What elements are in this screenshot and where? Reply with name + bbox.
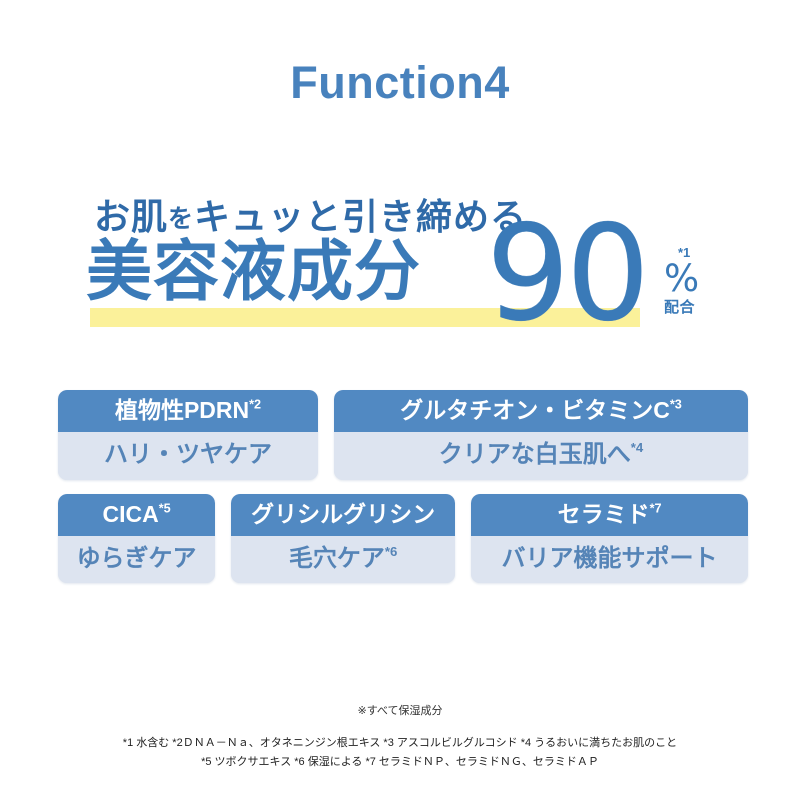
card-header-label: グルタチオン・ビタミンC (400, 397, 670, 423)
card-header-label: グリシルグリシン (251, 501, 435, 527)
page-title: Function4 (0, 60, 800, 105)
card-row-1: 植物性PDRN*2 ハリ・ツヤケア グルタチオン・ビタミンC*3 クリアな白玉肌… (58, 390, 748, 480)
card-plant-pdrn: 植物性PDRN*2 ハリ・ツヤケア (58, 390, 318, 480)
card-header-footnote-ref: *5 (159, 501, 171, 515)
footnote-line-1: *1 水含む *2ＤＮＡ－Ｎａ、オタネニンジン根エキス *3 アスコルビルグルコ… (0, 734, 800, 753)
card-glutathione-vitamin-c: グルタチオン・ビタミンC*3 クリアな白玉肌へ*4 (334, 390, 748, 480)
headline-block: お肌をキュッと引き締める 美容液成分 90 *1 % 配合 (86, 196, 726, 346)
card-header: グルタチオン・ビタミンC*3 (334, 390, 748, 432)
card-header-label: CICA (102, 501, 158, 527)
card-body: 毛穴ケア*6 (231, 536, 455, 583)
haigo-label: 配合 (664, 300, 724, 315)
card-body-footnote-ref: *4 (631, 440, 643, 455)
card-cica: CICA*5 ゆらぎケア (58, 494, 215, 584)
card-glycylglycine: グリシルグリシン 毛穴ケア*6 (231, 494, 455, 584)
footnotes-block: *1 水含む *2ＤＮＡ－Ｎａ、オタネニンジン根エキス *3 アスコルビルグルコ… (0, 734, 800, 773)
card-header: グリシルグリシン (231, 494, 455, 536)
headline-main-text: 美容液成分 (86, 238, 421, 304)
card-row-2: CICA*5 ゆらぎケア グリシルグリシン 毛穴ケア*6 セラミド*7 バリア機… (58, 494, 748, 584)
card-body: クリアな白玉肌へ*4 (334, 432, 748, 479)
feature-card-grid: 植物性PDRN*2 ハリ・ツヤケア グルタチオン・ビタミンC*3 クリアな白玉肌… (58, 390, 748, 597)
moisturizing-note: ※すべて保湿成分 (0, 702, 800, 718)
card-body-footnote-ref: *6 (385, 544, 397, 559)
card-body: バリア機能サポート (471, 536, 748, 583)
card-ceramide: セラミド*7 バリア機能サポート (471, 494, 748, 584)
card-header-label: セラミド (558, 501, 650, 527)
footnote-line-2: *5 ツボクサエキス *6 保湿による *7 セラミドＮＰ、セラミドＮＧ、セラミ… (0, 753, 800, 772)
percentage-number: 90 (486, 208, 646, 340)
card-header: セラミド*7 (471, 494, 748, 536)
card-body-label: ゆらぎケア (77, 545, 197, 572)
card-header: CICA*5 (58, 494, 215, 536)
percent-sign: % (664, 260, 724, 297)
card-header-footnote-ref: *3 (670, 398, 682, 412)
headline-sub-part1: お肌 (94, 196, 168, 237)
card-header-label: 植物性PDRN (115, 397, 249, 423)
card-header-footnote-ref: *7 (650, 501, 662, 515)
card-body: ハリ・ツヤケア (58, 432, 318, 479)
card-body-label: 毛穴ケア (289, 545, 385, 572)
headline-sub-part2: を (168, 205, 194, 233)
card-header: 植物性PDRN*2 (58, 390, 318, 432)
card-header-footnote-ref: *2 (249, 398, 261, 412)
headline-subtext: お肌をキュッと引き締める (94, 196, 527, 237)
card-body: ゆらぎケア (58, 536, 215, 583)
headline-sub-part3: キュッ (194, 196, 305, 237)
percentage-unit-stack: *1 % 配合 (664, 246, 724, 315)
card-body-label: クリアな白玉肌へ (439, 441, 631, 468)
card-body-label: ハリ・ツヤケア (104, 441, 272, 468)
card-body-label: バリア機能サポート (502, 545, 718, 572)
